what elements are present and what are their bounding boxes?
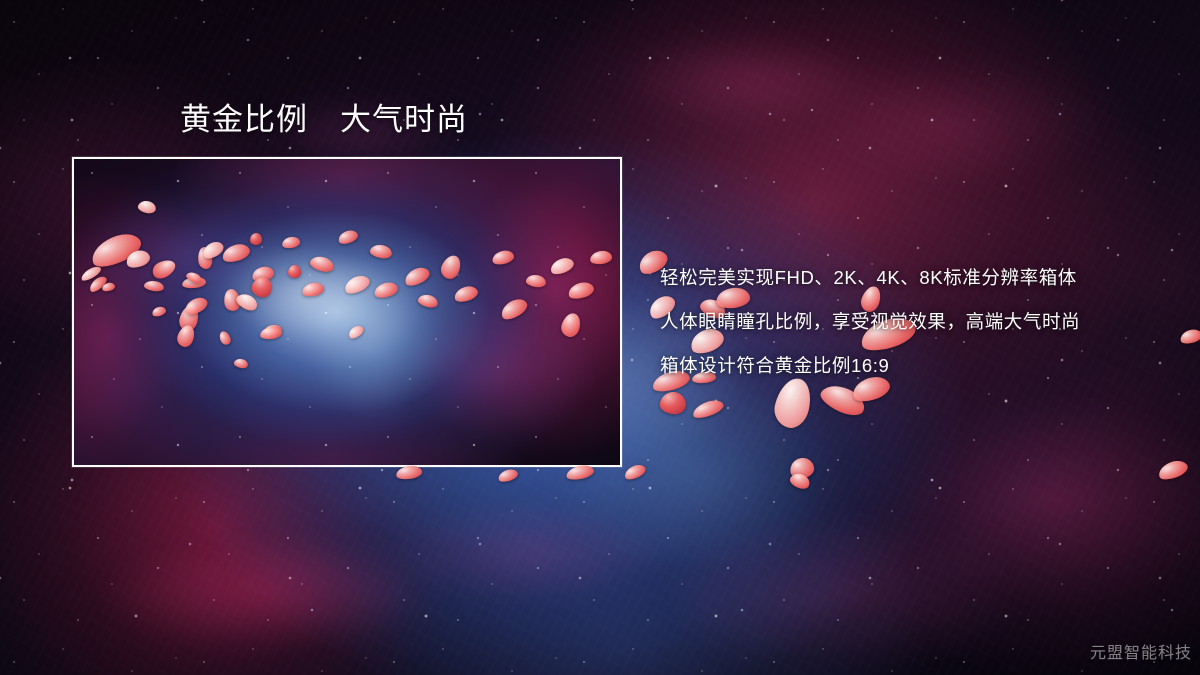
body-line-2: 人体眼睛瞳孔比例，享受视觉效果，高端大气时尚 [660, 300, 1180, 344]
rose-petal [497, 467, 519, 484]
presentation-slide: 黄金比例 大气时尚 [0, 0, 1200, 675]
body-line-1: 轻松完美实现FHD、2K、4K、8K标准分辨率箱体 [660, 256, 1180, 300]
body-line-3: 箱体设计符合黄金比例16:9 [660, 344, 1180, 388]
rose-petal [623, 462, 648, 482]
framed-image [72, 157, 622, 467]
inner-starfield [74, 159, 620, 465]
rose-petal [788, 471, 812, 491]
slide-title: 黄金比例 大气时尚 [180, 102, 468, 138]
watermark: 元盟智能科技 [1090, 639, 1192, 663]
body-text-block: 轻松完美实现FHD、2K、4K、8K标准分辨率箱体 人体眼睛瞳孔比例，享受视觉效… [660, 256, 1180, 388]
rose-petal [659, 391, 687, 416]
framed-image-content [74, 159, 620, 465]
rose-petal [691, 397, 726, 421]
rose-petal [1156, 457, 1190, 482]
rose-petal [1179, 327, 1200, 346]
rose-petal [788, 456, 815, 480]
